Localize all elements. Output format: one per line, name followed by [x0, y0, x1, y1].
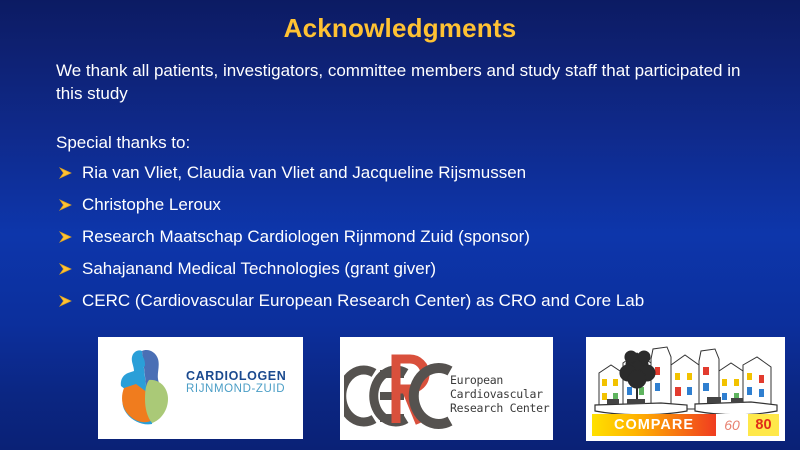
arrowhead-bullet-icon — [58, 197, 74, 213]
acknowledgment-list: Ria van Vliet, Claudia van Vliet and Jac… — [56, 162, 776, 322]
page-title: Acknowledgments — [0, 13, 800, 44]
list-item-label: Research Maatschap Cardiologen Rijnmond … — [82, 227, 530, 246]
cardiologen-wordmark: CARDIOLOGEN RIJNMOND-ZUID — [186, 369, 286, 397]
special-thanks-label: Special thanks to: — [56, 132, 190, 154]
list-item: Sahajanand Medical Technologies (grant g… — [56, 258, 776, 280]
cerc-line-1: European — [450, 373, 549, 387]
list-item-label: Sahajanand Medical Technologies (grant g… — [82, 259, 436, 278]
logo-cerc: European Cardiovascular Research Center — [340, 337, 553, 440]
list-item-label: Ria van Vliet, Claudia van Vliet and Jac… — [82, 163, 526, 182]
arrowhead-bullet-icon — [58, 165, 74, 181]
arrowhead-bullet-icon — [58, 261, 74, 277]
cardiologen-name: CARDIOLOGEN — [186, 369, 286, 383]
list-item: CERC (Cardiovascular European Research C… — [56, 290, 776, 312]
acknowledgments-slide: Acknowledgments We thank all patients, i… — [0, 0, 800, 450]
cardiologen-subtitle: RIJNMOND-ZUID — [186, 383, 286, 396]
compare-banner-value-60: 60 — [716, 414, 748, 436]
logo-compare-study: COMPARE 60 80 — [586, 337, 785, 441]
intro-paragraph: We thank all patients, investigators, co… — [56, 59, 756, 105]
list-item-label: CERC (Cardiovascular European Research C… — [82, 291, 644, 310]
cerc-tagline: European Cardiovascular Research Center — [450, 373, 549, 415]
compare-banner-title: COMPARE — [592, 414, 716, 436]
compare-banner: COMPARE 60 80 — [592, 414, 779, 436]
compare-banner-value-80: 80 — [748, 414, 779, 436]
sponsor-logo-row: CARDIOLOGEN RIJNMOND-ZUID — [0, 337, 800, 441]
cerc-line-3: Research Center — [450, 401, 549, 415]
list-item: Christophe Leroux — [56, 194, 776, 216]
logo-cardiologen-rijnmond-zuid: CARDIOLOGEN RIJNMOND-ZUID — [98, 337, 303, 439]
list-item: Ria van Vliet, Claudia van Vliet and Jac… — [56, 162, 776, 184]
cerc-line-2: Cardiovascular — [450, 387, 549, 401]
list-item: Research Maatschap Cardiologen Rijnmond … — [56, 226, 776, 248]
arrowhead-bullet-icon — [58, 229, 74, 245]
arrowhead-bullet-icon — [58, 293, 74, 309]
list-item-label: Christophe Leroux — [82, 195, 221, 214]
